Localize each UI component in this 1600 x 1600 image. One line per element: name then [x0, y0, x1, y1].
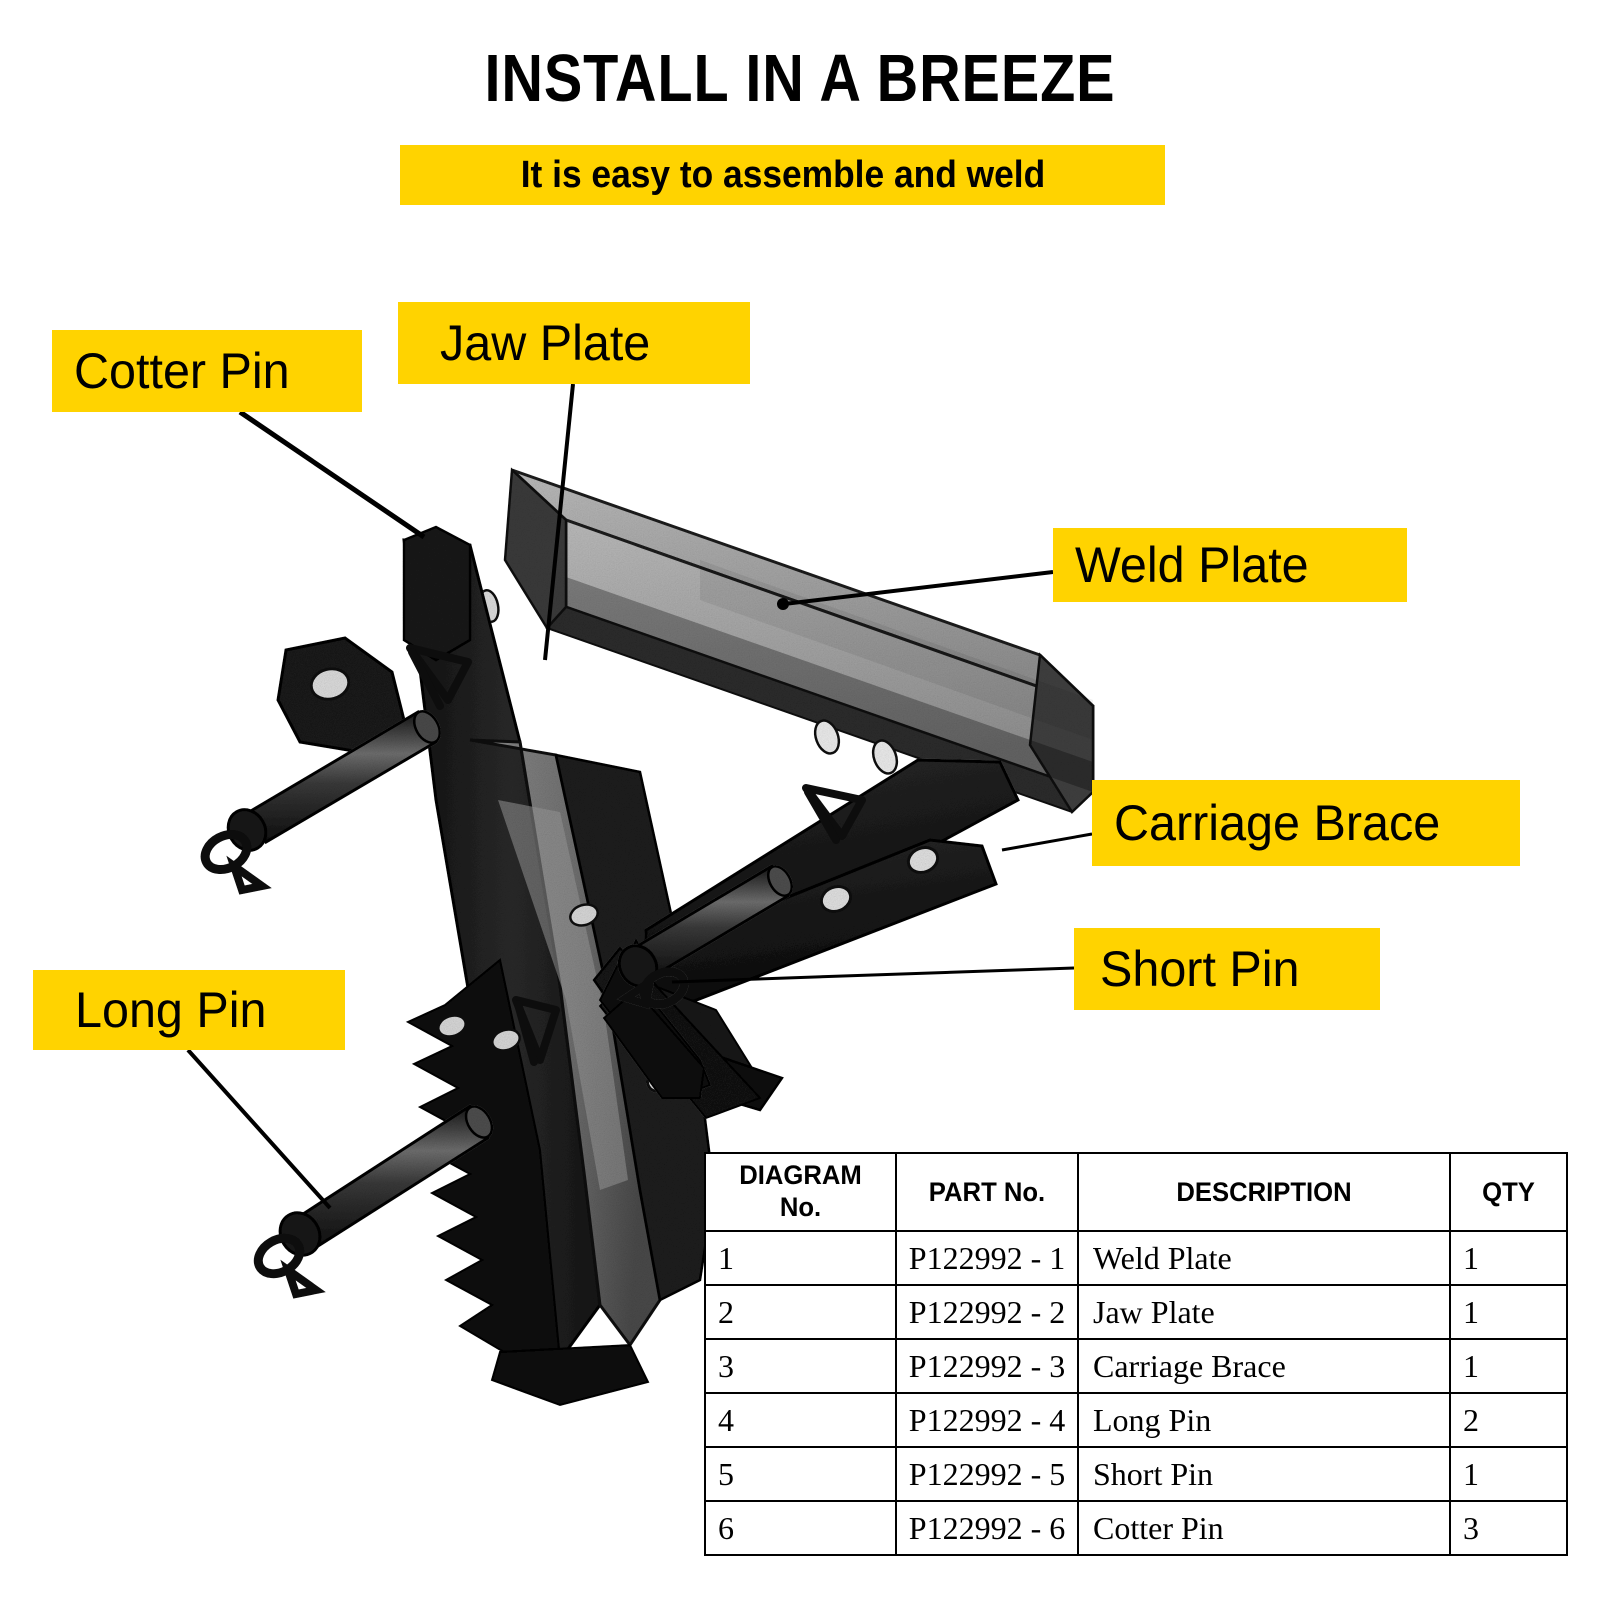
parts-table-body: 1 P122992 - 1 Weld Plate 1 2 P122992 - 2… [705, 1231, 1567, 1555]
cell-part-no: P122992 - 6 [896, 1501, 1078, 1555]
table-row: 6 P122992 - 6 Cotter Pin 3 [705, 1501, 1567, 1555]
cell-diagram-no: 4 [705, 1393, 896, 1447]
cell-part-no: P122992 - 1 [896, 1231, 1078, 1285]
column-header-diagram-no-line1: DIAGRAM [711, 1160, 891, 1192]
cell-diagram-no: 5 [705, 1447, 896, 1501]
cell-part-no: P122992 - 4 [896, 1393, 1078, 1447]
cell-part-no: P122992 - 2 [896, 1285, 1078, 1339]
table-row: 3 P122992 - 3 Carriage Brace 1 [705, 1339, 1567, 1393]
table-row: 4 P122992 - 4 Long Pin 2 [705, 1393, 1567, 1447]
cell-diagram-no: 1 [705, 1231, 896, 1285]
cell-part-no: P122992 - 3 [896, 1339, 1078, 1393]
leader-carriage-brace [1002, 834, 1092, 850]
parts-table: DIAGRAM No. PART No. DESCRIPTION QTY 1 P… [704, 1152, 1568, 1556]
cell-qty: 2 [1450, 1393, 1567, 1447]
column-header-qty: QTY [1453, 1153, 1564, 1231]
leader-long-pin [188, 1050, 330, 1208]
column-header-description: DESCRIPTION [1087, 1153, 1440, 1231]
callout-short-pin: Short Pin [1074, 928, 1380, 1010]
parts-table-head: DIAGRAM No. PART No. DESCRIPTION QTY [705, 1153, 1567, 1231]
callout-long-pin: Long Pin [33, 970, 345, 1050]
cell-description: Jaw Plate [1078, 1285, 1450, 1339]
cell-description: Cotter Pin [1078, 1501, 1450, 1555]
cell-diagram-no: 2 [705, 1285, 896, 1339]
callout-cotter-pin-label: Cotter Pin [74, 346, 290, 396]
cell-description: Weld Plate [1078, 1231, 1450, 1285]
callout-jaw-plate: Jaw Plate [398, 302, 750, 384]
callout-carriage-brace-label: Carriage Brace [1114, 798, 1440, 848]
cell-diagram-no: 6 [705, 1501, 896, 1555]
callout-carriage-brace: Carriage Brace [1092, 780, 1520, 866]
table-row: 1 P122992 - 1 Weld Plate 1 [705, 1231, 1567, 1285]
cell-description: Carriage Brace [1078, 1339, 1450, 1393]
table-row: 2 P122992 - 2 Jaw Plate 1 [705, 1285, 1567, 1339]
cell-qty: 1 [1450, 1231, 1567, 1285]
cell-description: Long Pin [1078, 1393, 1450, 1447]
cell-diagram-no: 3 [705, 1339, 896, 1393]
column-header-diagram-no: DIAGRAM No. [710, 1153, 891, 1231]
cell-qty: 3 [1450, 1501, 1567, 1555]
callout-jaw-plate-label: Jaw Plate [440, 318, 650, 368]
cell-qty: 1 [1450, 1339, 1567, 1393]
column-header-part-no: PART No. [901, 1153, 1074, 1231]
cell-description: Short Pin [1078, 1447, 1450, 1501]
cell-qty: 1 [1450, 1285, 1567, 1339]
callout-weld-plate: Weld Plate [1053, 528, 1407, 602]
callout-cotter-pin: Cotter Pin [52, 330, 362, 412]
column-header-diagram-no-line2: No. [711, 1192, 891, 1224]
cell-qty: 1 [1450, 1447, 1567, 1501]
callout-long-pin-label: Long Pin [75, 985, 266, 1035]
callout-short-pin-label: Short Pin [1100, 944, 1300, 994]
parts-table-header-row: DIAGRAM No. PART No. DESCRIPTION QTY [705, 1153, 1567, 1231]
callout-weld-plate-label: Weld Plate [1075, 540, 1309, 590]
leader-cotter-pin [240, 412, 424, 537]
leader-weld-plate-dot [777, 598, 789, 610]
cell-part-no: P122992 - 5 [896, 1447, 1078, 1501]
table-row: 5 P122992 - 5 Short Pin 1 [705, 1447, 1567, 1501]
